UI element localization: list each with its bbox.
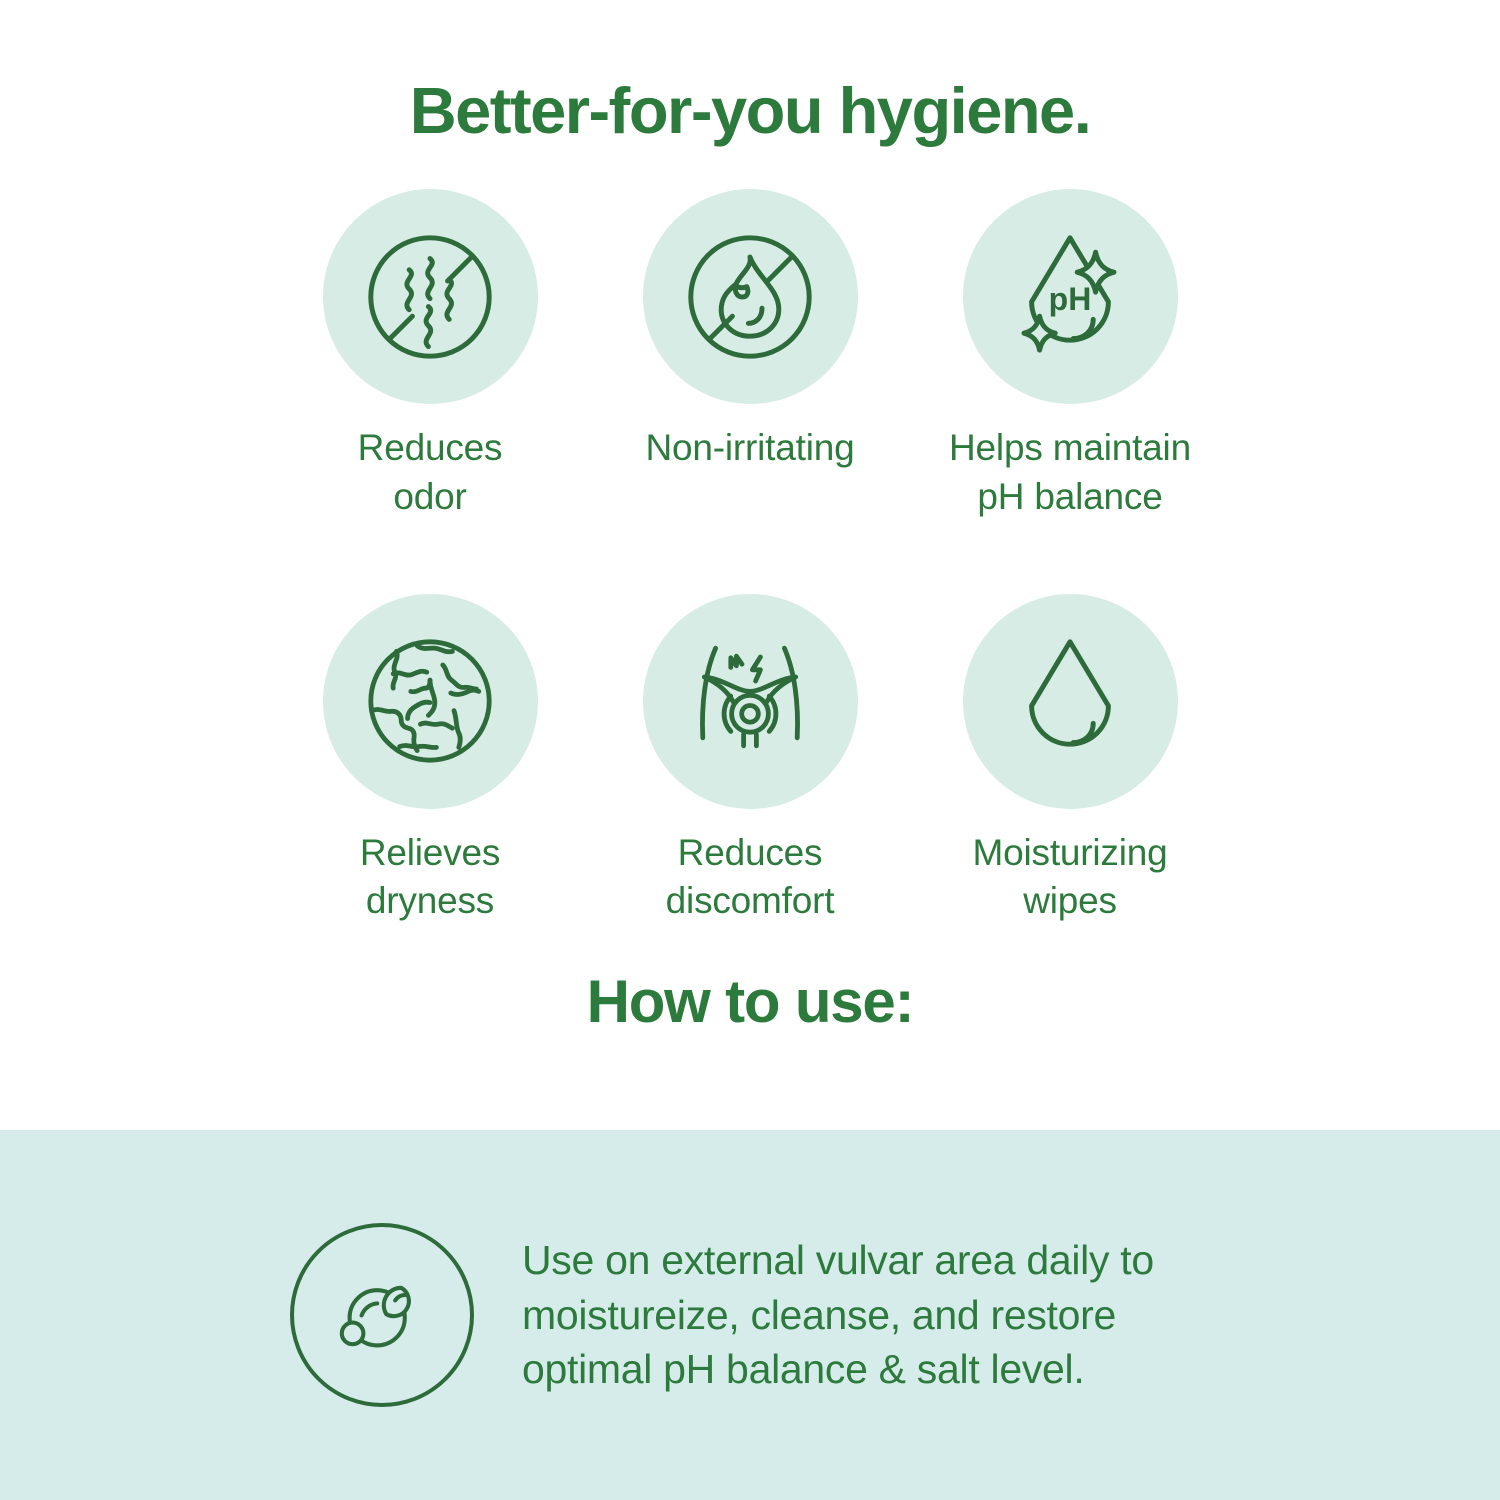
benefit-item-moisturizing-wipes: Moisturizing wipes: [910, 594, 1230, 927]
icon-circle: [643, 594, 858, 809]
benefit-label: Moisturizing wipes: [973, 829, 1168, 927]
benefit-label: Helps maintain pH balance: [949, 424, 1191, 522]
ph-droplet-sparkle-icon: pH: [990, 217, 1150, 377]
icon-circle: pH: [963, 189, 1178, 404]
benefit-item-non-irritating: Non-irritating: [590, 189, 910, 522]
page-title: Better-for-you hygiene.: [410, 0, 1091, 143]
product-benefits-infographic: Better-for-you hygiene.: [0, 0, 1500, 1500]
benefit-item-relieves-dryness: Relieves dryness: [270, 594, 590, 927]
pelvic-discomfort-icon: [670, 621, 830, 781]
benefit-label: Reduces odor: [358, 424, 503, 522]
benefit-label: Relieves dryness: [360, 829, 500, 927]
icon-circle: [290, 1223, 474, 1407]
icon-circle: [323, 594, 538, 809]
how-to-use-section: Use on external vulvar area daily to moi…: [0, 1130, 1500, 1500]
no-flame-icon: [670, 217, 830, 377]
how-to-use-title: How to use:: [587, 926, 914, 1032]
ph-icon-text: pH: [1049, 280, 1092, 316]
benefit-item-ph-balance: pH Helps maintain pH balance: [910, 189, 1230, 522]
benefit-grid: Reduces odor Non-irritating: [270, 189, 1230, 926]
cracked-dry-skin-icon: [350, 621, 510, 781]
water-droplet-icon: [990, 621, 1150, 781]
benefit-item-reduces-discomfort: Reduces discomfort: [590, 594, 910, 927]
benefit-label: Non-irritating: [646, 424, 855, 473]
bubbles-icon: [322, 1253, 442, 1378]
benefits-section: Better-for-you hygiene.: [0, 0, 1500, 1130]
benefit-label: Reduces discomfort: [666, 829, 835, 927]
how-to-use-row: Use on external vulvar area daily to moi…: [290, 1223, 1154, 1407]
icon-circle: [963, 594, 1178, 809]
no-odor-icon: [350, 217, 510, 377]
benefit-item-reduces-odor: Reduces odor: [270, 189, 590, 522]
icon-circle: [323, 189, 538, 404]
how-to-use-instruction: Use on external vulvar area daily to moi…: [522, 1233, 1154, 1397]
icon-circle: [643, 189, 858, 404]
